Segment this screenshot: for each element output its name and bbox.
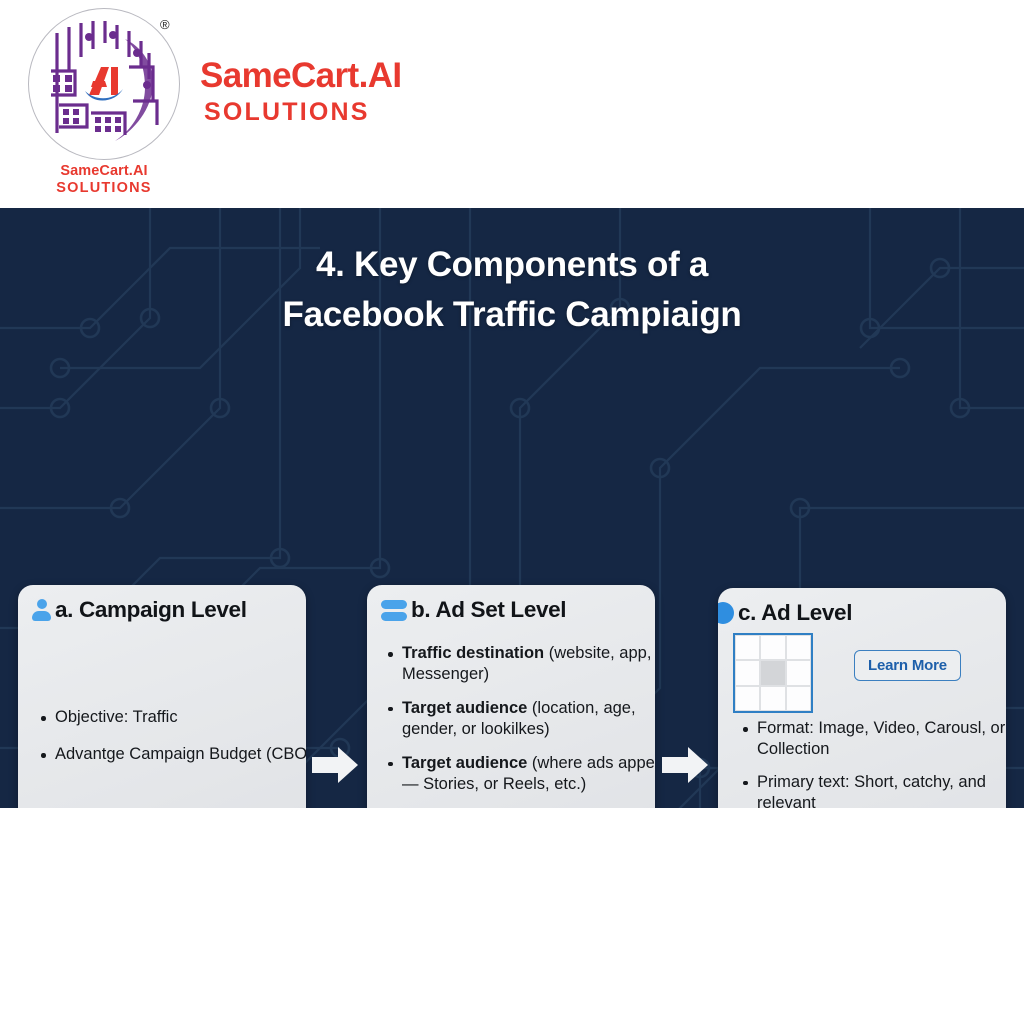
- image-grid-thumbnail-icon: [733, 633, 813, 713]
- brand-name: SameCart.AI: [200, 58, 402, 93]
- learn-more-button[interactable]: Learn More: [854, 650, 961, 681]
- card-campaign-level-title: a. Campaign Level: [55, 597, 247, 623]
- card-ad-set-level-bullets: Traffic destination (website, app, or Me…: [385, 643, 655, 808]
- list-item: Objective: Traffic: [38, 707, 306, 728]
- list-item-text: Advantge Campaign Budget (CBO): [55, 745, 306, 763]
- card-campaign-level-bullets: Objective: Traffic Advantge Campaign Bud…: [38, 707, 306, 782]
- list-item: Traffic destination (website, app, or Me…: [385, 643, 655, 686]
- person-icon: [32, 599, 51, 621]
- stacked-bars-icon: [381, 599, 407, 622]
- circuit-brain-ai-logo-icon: [28, 8, 180, 160]
- card-ad-set-level[interactable]: b. Ad Set Level Traffic destination (web…: [367, 585, 655, 808]
- card-campaign-level-header: a. Campaign Level: [32, 597, 247, 623]
- header-bar: ® SameCart.AI SOLUTIONS SameCart.AI SOLU…: [0, 0, 1024, 208]
- list-item: Primary text: Short, catchy, and relevan…: [740, 772, 1006, 808]
- blue-circle-icon: [718, 602, 734, 624]
- card-ad-level-bullets: Format: Image, Video, Carousl, or or Col…: [740, 718, 1006, 808]
- list-item: Target audience (location, age, gender, …: [385, 698, 655, 741]
- list-item: Target audience (where ads appear — Stor…: [385, 753, 655, 796]
- list-item-label: Target audience: [402, 754, 527, 772]
- logo-caption: SameCart.AI SOLUTIONS: [56, 163, 151, 197]
- page-title-line2: Facebook Traffic Campiaign: [0, 290, 1024, 340]
- arrow-adset-to-ad-icon: [662, 745, 708, 785]
- list-item-text: Objective: Traffic: [55, 708, 178, 726]
- logo-caption-subtitle: SOLUTIONS: [56, 180, 151, 197]
- page-title-line1: 4. Key Components of a: [0, 240, 1024, 290]
- arrow-campaign-to-adset-icon: [312, 745, 358, 785]
- list-item-text: Format: Image, Video, Carousl, or or Col…: [757, 719, 1006, 758]
- card-ad-set-level-header: b. Ad Set Level: [381, 597, 566, 623]
- card-ad-level-title: c. Ad Level: [738, 600, 852, 626]
- logo-block: ® SameCart.AI SOLUTIONS: [24, 8, 184, 197]
- card-campaign-level[interactable]: a. Campaign Level Objective: Traffic Adv…: [18, 585, 306, 808]
- brand-lockup: ® SameCart.AI SOLUTIONS SameCart.AI SOLU…: [24, 8, 402, 197]
- slide-body: 4. Key Components of a Facebook Traffic …: [0, 208, 1024, 808]
- list-item-label: Traffic destination: [402, 644, 544, 662]
- brand-text: SameCart.AI SOLUTIONS: [200, 58, 402, 125]
- list-item: Advantge Campaign Budget (CBO): [38, 744, 306, 765]
- brand-subtitle: SOLUTIONS: [204, 100, 402, 125]
- registered-trademark-mark: ®: [160, 18, 170, 31]
- list-item-text: Primary text: Short, catchy, and relevan…: [757, 773, 986, 808]
- list-item-label: Target audience: [402, 699, 527, 717]
- page-title: 4. Key Components of a Facebook Traffic …: [0, 240, 1024, 341]
- card-ad-level[interactable]: c. Ad Level Learn More Format: Image, Vi…: [718, 588, 1006, 808]
- card-ad-level-header: c. Ad Level: [718, 600, 852, 626]
- logo-caption-name: SameCart.AI: [56, 163, 151, 180]
- card-ad-set-level-title: b. Ad Set Level: [411, 597, 566, 623]
- list-item: Format: Image, Video, Carousl, or or Col…: [740, 718, 1006, 761]
